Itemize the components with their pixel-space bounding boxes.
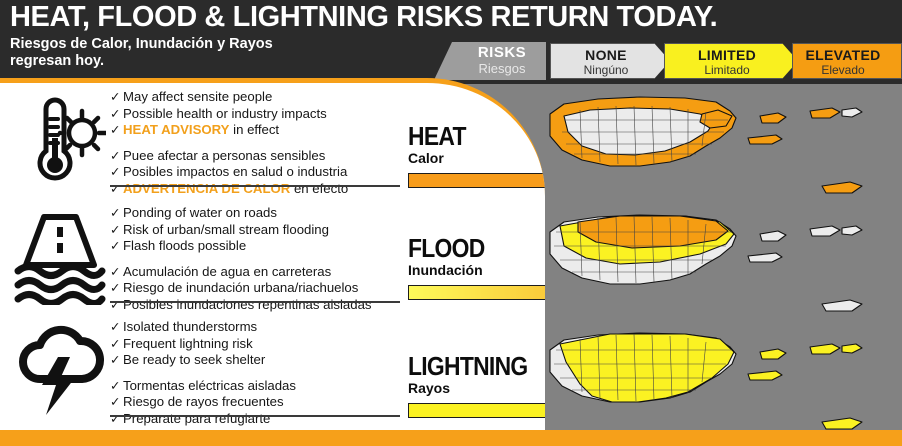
list-item: ✓Posibles inundaciones repentinas aislad…: [110, 297, 400, 314]
heat-label-es: Calor: [408, 150, 533, 166]
section-lightning: ✓Isolated thunderstorms ✓Frequent lightn…: [0, 317, 545, 429]
check-icon: ✓: [110, 89, 123, 106]
risk-legend: RISKS Riesgos NONE Ningúno LIMITED Limit…: [434, 42, 902, 80]
list-item: ✓Tormentas eléctricas aisladas: [110, 378, 400, 395]
check-icon: ✓: [110, 205, 123, 222]
list-item: ✓May affect sensite people: [110, 89, 400, 106]
legend-level-none-es: Ningúno: [551, 63, 661, 77]
list-item: ✓Risk of urban/small stream flooding: [110, 222, 400, 239]
list-item: ✓Riesgo de inundación urbana/riachuelos: [110, 280, 400, 297]
heat-risk-map: [520, 86, 902, 204]
flood-status-bar: [408, 285, 545, 300]
check-icon: ✓: [110, 106, 123, 123]
infographic-root: HEAT, FLOOD & LIGHTNING RISKS RETURN TOD…: [0, 0, 902, 446]
heat-status-bar: [408, 173, 545, 188]
legend-level-limited-en: LIMITED: [665, 47, 789, 63]
list-item: ✓Riesgo de rayos frecuentes: [110, 394, 400, 411]
flood-risk-map: [520, 204, 902, 322]
flood-bullets: ✓Ponding of water on roads ✓Risk of urba…: [110, 205, 400, 314]
lightning-status-bar: [408, 403, 545, 418]
bottom-accent-bar: [0, 430, 902, 446]
check-icon: ✓: [110, 148, 123, 165]
list-item: ✓Acumulación de agua en carreteras: [110, 264, 400, 281]
legend-level-elevated-es: Elevado: [793, 63, 893, 77]
list-item: ✓HEAT ADVISORY in effect: [110, 122, 400, 139]
heat-label-en: HEAT: [408, 123, 518, 149]
list-item: ✓Flash floods possible: [110, 238, 400, 255]
legend-level-none: NONE Ningúno: [550, 43, 670, 79]
flood-label-en: FLOOD: [408, 235, 518, 261]
list-item: ✓ADVERTENCIA DE CALOR en efecto: [110, 181, 400, 198]
thunderstorm-icon: [14, 323, 106, 419]
check-icon: ✓: [110, 378, 123, 395]
legend-level-limited: LIMITED Limitado: [664, 43, 798, 79]
lightning-bullets-es: ✓Tormentas eléctricas aisladas ✓Riesgo d…: [110, 378, 400, 428]
list-item: ✓Puee afectar a personas sensibles: [110, 148, 400, 165]
details-panel: ✓May affect sensite people ✓Possible hea…: [0, 78, 545, 434]
check-icon: ✓: [110, 411, 123, 428]
thermometer-sun-icon: [14, 93, 106, 189]
legend-level-elevated-en: ELEVATED: [793, 47, 893, 63]
list-item: ✓Be ready to seek shelter: [110, 352, 400, 369]
check-icon: ✓: [110, 264, 123, 281]
flood-bullets-es: ✓Acumulación de agua en carreteras ✓Ries…: [110, 264, 400, 314]
heat-label-group: HEAT Calor: [408, 123, 533, 166]
list-item: ✓Frequent lightning risk: [110, 336, 400, 353]
check-icon: ✓: [110, 181, 123, 198]
section-flood: ✓Ponding of water on roads ✓Risk of urba…: [0, 203, 545, 315]
check-icon: ✓: [110, 336, 123, 353]
heat-bullets: ✓May affect sensite people ✓Possible hea…: [110, 89, 400, 198]
check-icon: ✓: [110, 394, 123, 411]
road-flood-icon: [14, 209, 106, 305]
section-heat: ✓May affect sensite people ✓Possible hea…: [0, 87, 545, 199]
legend-title-es: Riesgos: [464, 61, 540, 76]
map-column: [520, 84, 902, 446]
section-divider: [110, 185, 400, 187]
lightning-bullets-en: ✓Isolated thunderstorms ✓Frequent lightn…: [110, 319, 400, 369]
page-subtitle: Riesgos de Calor, Inundación y Rayos reg…: [10, 36, 273, 70]
check-icon: ✓: [110, 280, 123, 297]
check-icon: ✓: [110, 319, 123, 336]
list-item: ✓Isolated thunderstorms: [110, 319, 400, 336]
legend-level-limited-es: Limitado: [665, 63, 789, 77]
lightning-label-es: Rayos: [408, 380, 533, 396]
heat-bullets-es: ✓Puee afectar a personas sensibles ✓Posi…: [110, 148, 400, 198]
check-icon: ✓: [110, 352, 123, 369]
legend-level-elevated: ELEVATED Elevado: [792, 43, 902, 79]
list-item: ✓Posibles impactos en salud o industria: [110, 164, 400, 181]
check-icon: ✓: [110, 222, 123, 239]
lightning-risk-map: [520, 322, 902, 440]
lightning-label-en: LIGHTNING: [408, 353, 518, 379]
flood-label-group: FLOOD Inundación: [408, 235, 533, 278]
check-icon: ✓: [110, 164, 123, 181]
section-divider: [110, 301, 400, 303]
legend-title-chevron: RISKS Riesgos: [434, 42, 546, 80]
lightning-label-group: LIGHTNING Rayos: [408, 353, 533, 396]
flood-label-es: Inundación: [408, 262, 533, 278]
list-item: ✓Possible health or industry impacts: [110, 106, 400, 123]
legend-level-none-en: NONE: [551, 47, 661, 63]
check-icon: ✓: [110, 122, 123, 139]
heat-bullets-en: ✓May affect sensite people ✓Possible hea…: [110, 89, 400, 139]
section-divider: [110, 415, 400, 417]
lightning-bullets: ✓Isolated thunderstorms ✓Frequent lightn…: [110, 319, 400, 428]
page-title: HEAT, FLOOD & LIGHTNING RISKS RETURN TOD…: [10, 0, 717, 34]
list-item: ✓Preparate para refugiarte: [110, 411, 400, 428]
flood-bullets-en: ✓Ponding of water on roads ✓Risk of urba…: [110, 205, 400, 255]
header-bar: HEAT, FLOOD & LIGHTNING RISKS RETURN TOD…: [0, 0, 902, 84]
legend-title-en: RISKS: [464, 44, 540, 61]
check-icon: ✓: [110, 238, 123, 255]
list-item: ✓Ponding of water on roads: [110, 205, 400, 222]
check-icon: ✓: [110, 297, 123, 314]
